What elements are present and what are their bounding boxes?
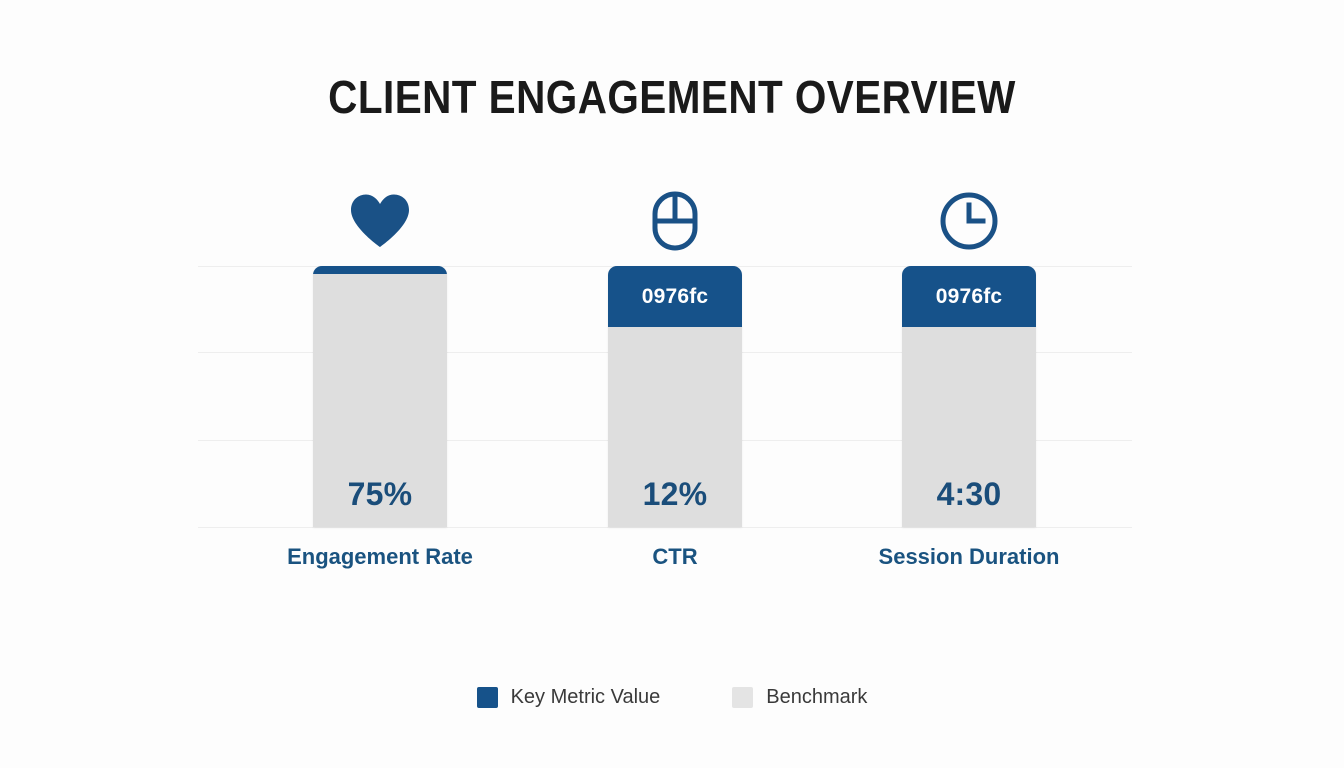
legend-swatch-icon [477,687,498,708]
bar-group-ctr[interactable]: 0976fc 12% CTR [608,0,742,768]
bar-segment-label: 0976fc [642,285,709,309]
heart-icon [313,190,447,252]
bar-value-segment: 0976fc [608,266,742,327]
bar-category-label: CTR [570,541,780,572]
legend-label: Key Metric Value [511,686,661,709]
bar-category-label: Session Duration [864,541,1074,572]
mouse-icon [608,190,742,252]
chart-root: CLIENT ENGAGEMENT OVERVIEW 75% Engagemen… [0,0,1344,768]
bar-value-segment: 0976fc [902,266,1036,327]
bar-value-segment [313,266,447,274]
bar-value-label: 4:30 [902,476,1036,513]
plot-area: 75% Engagement Rate 0976fc 12% CTR [0,0,1344,768]
bar-group-engagement-rate[interactable]: 75% Engagement Rate [313,0,447,768]
bar-group-session-duration[interactable]: 0976fc 4:30 Session Duration [902,0,1036,768]
bar-value-label: 12% [608,476,742,513]
chart-legend: Key Metric Value Benchmark [0,686,1344,709]
bar-category-label: Engagement Rate [275,541,485,572]
bar-stack[interactable]: 0976fc 12% [608,266,742,527]
legend-swatch-icon [732,687,753,708]
bar-stack[interactable]: 0976fc 4:30 [902,266,1036,527]
bar-stack[interactable]: 75% [313,266,447,527]
clock-icon [902,190,1036,252]
bar-value-label: 75% [313,476,447,513]
bar-segment-label: 0976fc [936,285,1003,309]
legend-item-benchmark[interactable]: Benchmark [732,686,867,709]
legend-item-key-metric-value[interactable]: Key Metric Value [477,686,661,709]
legend-label: Benchmark [766,686,867,709]
